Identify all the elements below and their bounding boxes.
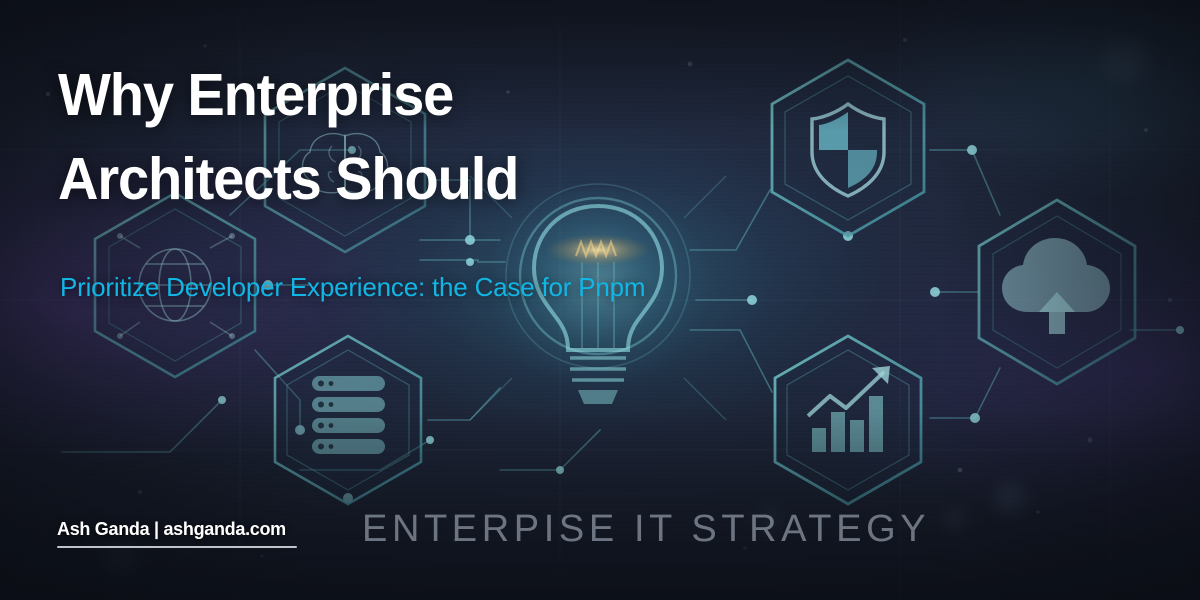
category-kicker: ENTERPISE IT STRATEGY <box>362 508 930 551</box>
page-title: Why Enterprise Architects Should <box>58 54 723 222</box>
text-layer: Why Enterprise Architects Should Priorit… <box>0 0 1200 600</box>
headline-line-1: Why Enterprise <box>58 54 723 138</box>
banner-graphic: Why Enterprise Architects Should Priorit… <box>0 0 1200 600</box>
attribution-text: Ash Ganda | ashganda.com <box>57 519 299 540</box>
headline-line-2: Architects Should <box>58 138 723 222</box>
page-subtitle: Prioritize Developer Experience: the Cas… <box>60 272 645 303</box>
attribution: Ash Ganda | ashganda.com <box>57 519 299 548</box>
attribution-underline <box>57 546 297 548</box>
